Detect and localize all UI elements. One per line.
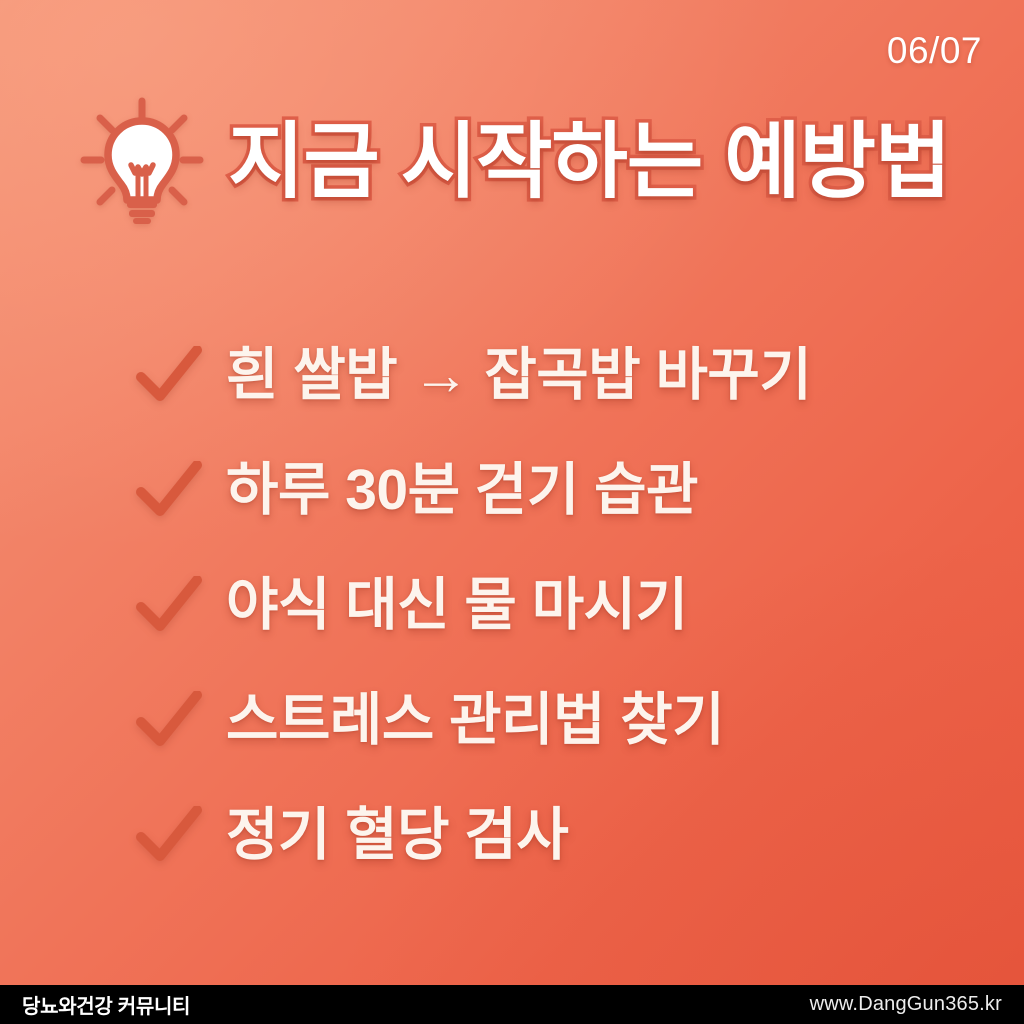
lightbulb-icon (78, 97, 206, 225)
page-counter: 06/07 (887, 30, 982, 72)
check-icon (136, 576, 202, 636)
infographic-card: 06/07 지금 시작하는 예방법 (0, 0, 1024, 1024)
list-item-label: 하루 30분 걷기 습관 (226, 461, 698, 521)
list-item: 스트레스 관리법 찾기 (136, 663, 964, 778)
list-item-label: 흰 쌀밥 → 잡곡밥 바꾸기 (226, 346, 811, 406)
header: 지금 시작하는 예방법 (78, 96, 964, 226)
page-title: 지금 시작하는 예방법 (228, 120, 950, 203)
list-item: 정기 혈당 검사 (136, 778, 964, 893)
footer-brand: 당뇨와건강 커뮤니티 (22, 990, 190, 1019)
footer-url[interactable]: www.DangGun365.kr (810, 993, 1002, 1016)
check-icon (136, 461, 202, 521)
check-icon (136, 806, 202, 866)
list-item: 야식 대신 물 마시기 (136, 548, 964, 663)
list-item: 하루 30분 걷기 습관 (136, 433, 964, 548)
list-item-label: 정기 혈당 검사 (226, 806, 568, 866)
list-item-label: 야식 대신 물 마시기 (226, 576, 688, 636)
check-icon (136, 691, 202, 751)
checklist: 흰 쌀밥 → 잡곡밥 바꾸기 하루 30분 걷기 습관 야식 대신 물 마시기 … (136, 318, 964, 893)
check-icon (136, 346, 202, 406)
list-item: 흰 쌀밥 → 잡곡밥 바꾸기 (136, 318, 964, 433)
list-item-label: 스트레스 관리법 찾기 (226, 691, 724, 751)
footer-bar: 당뇨와건강 커뮤니티 www.DangGun365.kr (0, 985, 1024, 1024)
